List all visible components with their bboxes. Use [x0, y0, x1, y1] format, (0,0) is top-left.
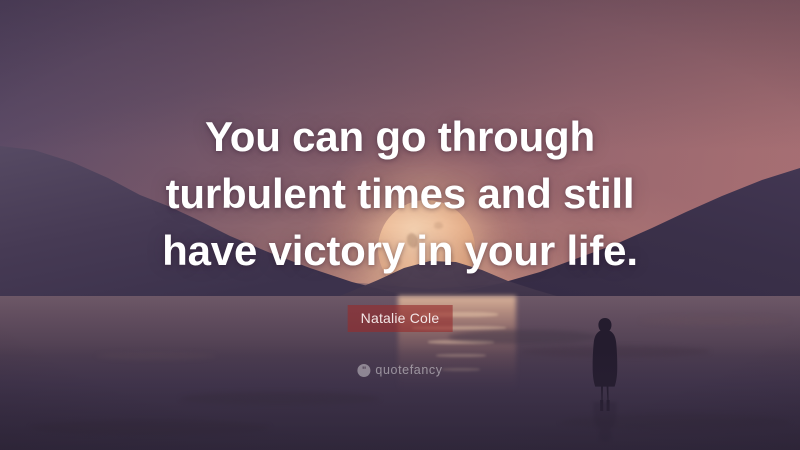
author-badge: Natalie Cole	[348, 305, 453, 332]
quote-line-3: have victory in your life.	[0, 222, 800, 279]
quote-text: You can go through turbulent times and s…	[0, 108, 800, 279]
quote-wallpaper: You can go through turbulent times and s…	[0, 0, 800, 450]
watermark-brand: quotefancy	[375, 363, 442, 377]
quote-mark-icon: "	[357, 364, 370, 377]
watermark: " quotefancy	[357, 363, 442, 377]
quote-mark-glyph: "	[362, 366, 366, 375]
quote-line-1: You can go through	[0, 108, 800, 165]
quote-line-2: turbulent times and still	[0, 165, 800, 222]
